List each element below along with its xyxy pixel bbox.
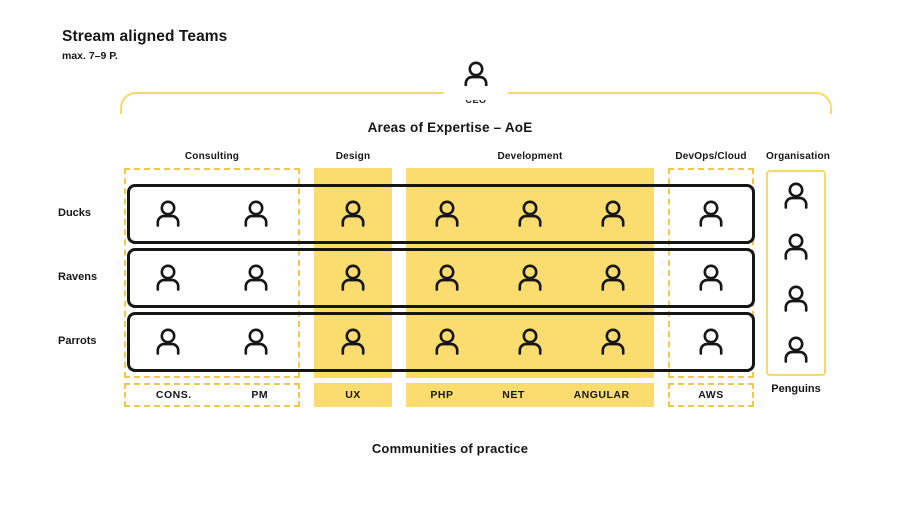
column-header-devops-cloud: DevOps/Cloud (668, 151, 754, 162)
person-icon (336, 325, 370, 359)
column-header-consulting: Consulting (124, 151, 300, 162)
community-badge-dev-cop[interactable]: PHPNETANGULAR (406, 383, 654, 407)
community-badge-label: ANGULAR (574, 389, 630, 401)
person-icon (151, 261, 185, 295)
community-badge-consulting-cop[interactable]: CONS.PM (124, 383, 300, 407)
community-badge-devops-cop[interactable]: AWS (668, 383, 754, 407)
person-icon (430, 197, 464, 231)
page-title: Stream aligned Teams (62, 28, 227, 46)
person-icon (239, 197, 273, 231)
footer-title: Communities of practice (0, 441, 900, 456)
person-icon (151, 325, 185, 359)
organisation-team-label: Penguins (746, 383, 846, 395)
person-icon (596, 197, 630, 231)
person-icon (694, 325, 728, 359)
person-icon (336, 197, 370, 231)
column-header-development: Development (406, 151, 654, 162)
areas-of-expertise-title: Areas of Expertise – AoE (0, 120, 900, 135)
diagram-canvas: Stream aligned Teams max. 7–9 P. CEO Are… (0, 0, 900, 506)
person-icon (694, 261, 728, 295)
team-label-parrots: Parrots (58, 335, 122, 347)
person-icon (239, 325, 273, 359)
community-badge-label: NET (502, 389, 525, 401)
community-badge-label: UX (345, 389, 361, 401)
person-icon (151, 197, 185, 231)
community-badge-label: CONS. (156, 389, 192, 401)
person-icon (694, 197, 728, 231)
person-icon (513, 325, 547, 359)
column-header-organisation: Organisation (766, 151, 826, 162)
organisation-column (766, 170, 826, 376)
community-badge-label: AWS (698, 389, 723, 401)
person-icon (513, 261, 547, 295)
person-icon (430, 325, 464, 359)
person-icon (596, 261, 630, 295)
person-icon (513, 197, 547, 231)
person-icon (430, 261, 464, 295)
community-badge-label: PM (251, 389, 268, 401)
person-icon (239, 261, 273, 295)
team-label-ravens: Ravens (58, 271, 122, 283)
team-label-ducks: Ducks (58, 207, 122, 219)
community-badge-design-cop[interactable]: UX (314, 383, 392, 407)
page-subtitle: max. 7–9 P. (62, 50, 118, 62)
column-header-design: Design (314, 151, 392, 162)
community-badge-label: PHP (430, 389, 453, 401)
person-icon (596, 325, 630, 359)
bracket-gap (444, 86, 508, 100)
person-icon (336, 261, 370, 295)
